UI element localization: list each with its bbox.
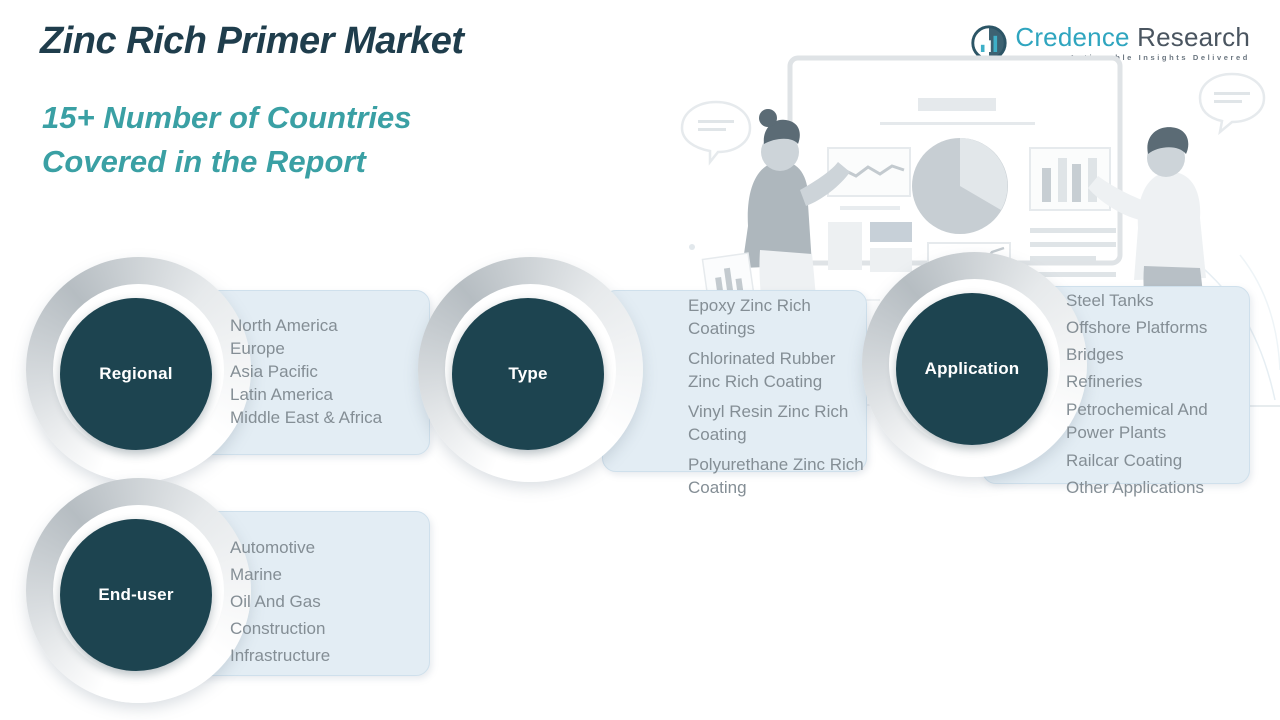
speech-bubble-right <box>1200 74 1264 132</box>
segment-regional-label: Regional <box>99 364 172 384</box>
segment-end-user-list: Automotive Marine Oil And Gas Constructi… <box>230 534 440 669</box>
list-item[interactable]: Infrastructure <box>230 642 440 669</box>
slide-canvas: Zinc Rich Primer Market 15+ Number of Co… <box>0 0 1280 720</box>
list-item[interactable]: Bridges <box>1066 341 1271 368</box>
brand-logo[interactable]: Credence Research Actionable Insights De… <box>971 24 1250 62</box>
logo-text: Credence Research Actionable Insights De… <box>1015 24 1250 62</box>
list-item[interactable]: Railcar Coating <box>1066 447 1271 474</box>
segment-type-label: Type <box>508 364 547 384</box>
segment-application-circle[interactable]: Application <box>896 293 1048 445</box>
list-item[interactable]: Offshore Platforms <box>1066 314 1271 341</box>
logo-wordmark: Credence Research <box>1015 24 1250 50</box>
list-item[interactable]: Polyurethane Zinc Rich Coating <box>688 453 888 499</box>
list-item[interactable]: Construction <box>230 615 440 642</box>
segment-regional-circle[interactable]: Regional <box>60 298 212 450</box>
list-item[interactable]: Automotive <box>230 534 440 561</box>
page-title: Zinc Rich Primer Market <box>40 20 464 63</box>
segment-application-label: Application <box>925 359 1020 379</box>
logo-name-primary: Credence <box>1015 22 1129 52</box>
list-item[interactable]: Steel Tanks <box>1066 287 1271 314</box>
list-item[interactable]: Vinyl Resin Zinc Rich Coating <box>688 400 888 446</box>
list-item[interactable]: Marine <box>230 561 440 588</box>
list-item[interactable]: North America <box>230 314 440 337</box>
segment-regional-list: North America Europe Asia Pacific Latin … <box>230 314 440 429</box>
list-item[interactable]: Epoxy Zinc Rich Coatings <box>688 294 888 340</box>
list-item[interactable]: Europe <box>230 337 440 360</box>
list-item[interactable]: Middle East & Africa <box>230 406 440 429</box>
segment-type-list: Epoxy Zinc Rich Coatings Chlorinated Rub… <box>688 294 888 506</box>
list-item[interactable]: Asia Pacific <box>230 360 440 383</box>
list-item[interactable]: Chlorinated Rubber Zinc Rich Coating <box>688 347 888 393</box>
list-item[interactable]: Latin America <box>230 383 440 406</box>
list-item[interactable]: Petrochemical And Power Plants <box>1066 398 1271 444</box>
page-subtitle: 15+ Number of Countries Covered in the R… <box>42 96 412 184</box>
segment-type-circle[interactable]: Type <box>452 298 604 450</box>
logo-name-secondary: Research <box>1137 22 1250 52</box>
segment-end-user-label: End-user <box>98 585 173 605</box>
bar-chart-circle-icon <box>971 25 1007 61</box>
speech-bubble-left <box>682 102 750 162</box>
list-item[interactable]: Other Applications <box>1066 474 1271 501</box>
segment-end-user-circle[interactable]: End-user <box>60 519 212 671</box>
logo-tagline: Actionable Insights Delivered <box>1015 54 1250 62</box>
segment-application-list: Steel Tanks Offshore Platforms Bridges R… <box>1066 287 1271 501</box>
list-item[interactable]: Oil And Gas <box>230 588 440 615</box>
list-item[interactable]: Refineries <box>1066 368 1271 395</box>
